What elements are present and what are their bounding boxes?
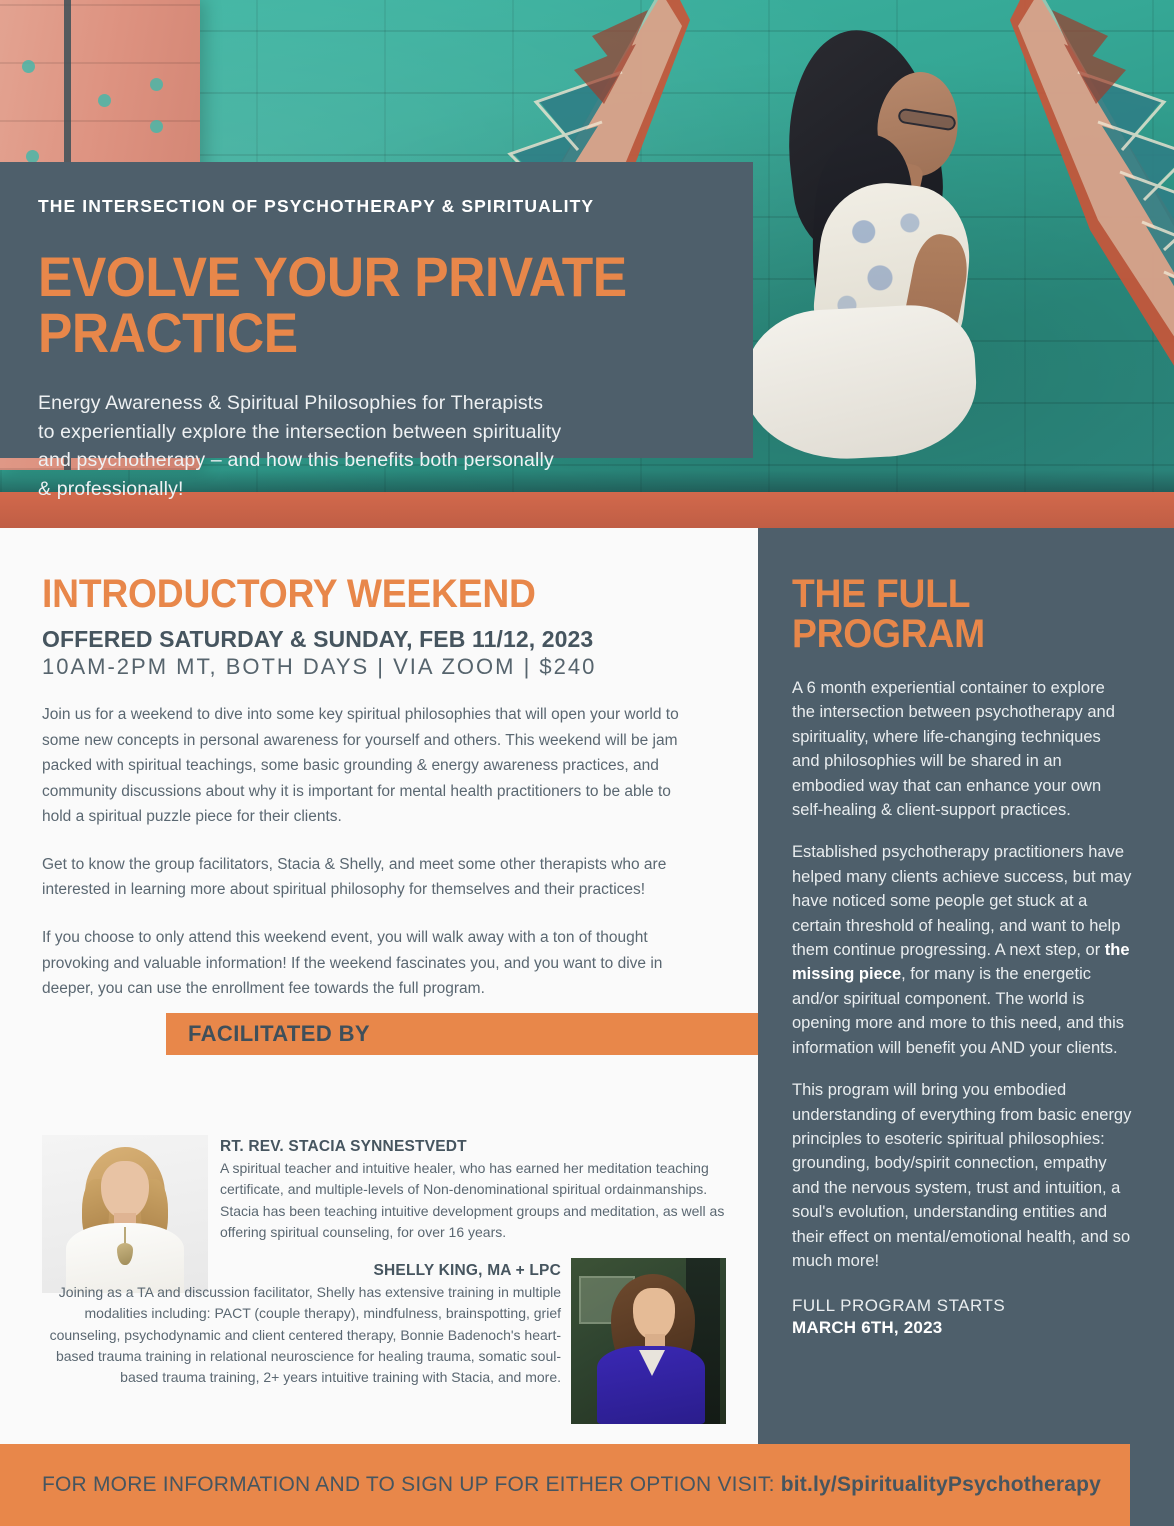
hero-subtitle: Energy Awareness & Spiritual Philosophie… — [38, 389, 709, 504]
main-content: INTRODUCTORY WEEKEND OFFERED SATURDAY & … — [0, 528, 1174, 1526]
hero-banner: THE INTERSECTION OF PSYCHOTHERAPY & SPIR… — [0, 0, 1174, 528]
angel-wing-right-icon — [1000, 0, 1174, 450]
poster-page: THE INTERSECTION OF PSYCHOTHERAPY & SPIR… — [0, 0, 1174, 1526]
intro-offered-date: OFFERED SATURDAY & SUNDAY, FEB 11/12, 20… — [42, 626, 698, 653]
footer-cta: FOR MORE INFORMATION AND TO SIGN UP FOR … — [42, 1473, 1101, 1497]
full-program-column: THE FULL PROGRAM A 6 month experiential … — [758, 528, 1174, 1526]
hero-text-overlay: THE INTERSECTION OF PSYCHOTHERAPY & SPIR… — [0, 162, 753, 458]
intro-paragraph-1: Join us for a weekend to dive into some … — [42, 702, 698, 830]
paint-dot — [150, 78, 163, 91]
footer-cta-label: FOR MORE INFORMATION AND TO SIGN UP FOR … — [42, 1473, 781, 1496]
facilitator-name: SHELLY KING, MA + LPC — [42, 1262, 561, 1280]
full-program-heading: THE FULL PROGRAM — [792, 574, 1108, 654]
white-pants — [740, 302, 980, 464]
footer-slate-cap — [1130, 1444, 1174, 1526]
avatar-shelly — [571, 1258, 726, 1424]
signup-link[interactable]: bit.ly/SpiritualityPsychotherapy — [781, 1473, 1101, 1496]
page-title: EVOLVE YOUR PRIVATE PRACTICE — [38, 249, 655, 361]
intro-time-price: 10AM-2PM MT, BOTH DAYS | VIA ZOOM | $240 — [42, 654, 698, 680]
program-start-block: FULL PROGRAM STARTS MARCH 6TH, 2023 — [792, 1295, 1132, 1339]
facilitator-name: RT. REV. STACIA SYNNESTVEDT — [220, 1138, 740, 1156]
facilitated-by-band: FACILITATED BY — [166, 1013, 758, 1055]
full-program-paragraph-3: This program will bring you embodied und… — [792, 1078, 1132, 1273]
program-start-label: FULL PROGRAM STARTS — [792, 1296, 1005, 1315]
paint-dot — [98, 94, 111, 107]
paint-dot — [150, 120, 163, 133]
facilitator-bio: A spiritual teacher and intuitive healer… — [220, 1158, 740, 1243]
hero-kicker: THE INTERSECTION OF PSYCHOTHERAPY & SPIR… — [38, 196, 709, 217]
p2-before: Established psychotherapy practitioners … — [792, 843, 1131, 959]
intro-heading: INTRODUCTORY WEEKEND — [42, 574, 652, 614]
paint-dot — [22, 60, 35, 73]
intro-paragraph-3: If you choose to only attend this weeken… — [42, 925, 698, 1002]
intro-paragraph-2: Get to know the group facilitators, Stac… — [42, 852, 698, 903]
full-program-paragraph-1: A 6 month experiential container to expl… — [792, 676, 1132, 822]
facilitator-bio: Joining as a TA and discussion facilitat… — [42, 1282, 561, 1388]
program-start-date: MARCH 6TH, 2023 — [792, 1317, 1132, 1339]
full-program-paragraph-2: Established psychotherapy practitioners … — [792, 840, 1132, 1060]
signup-footer-bar[interactable]: FOR MORE INFORMATION AND TO SIGN UP FOR … — [0, 1444, 1130, 1526]
